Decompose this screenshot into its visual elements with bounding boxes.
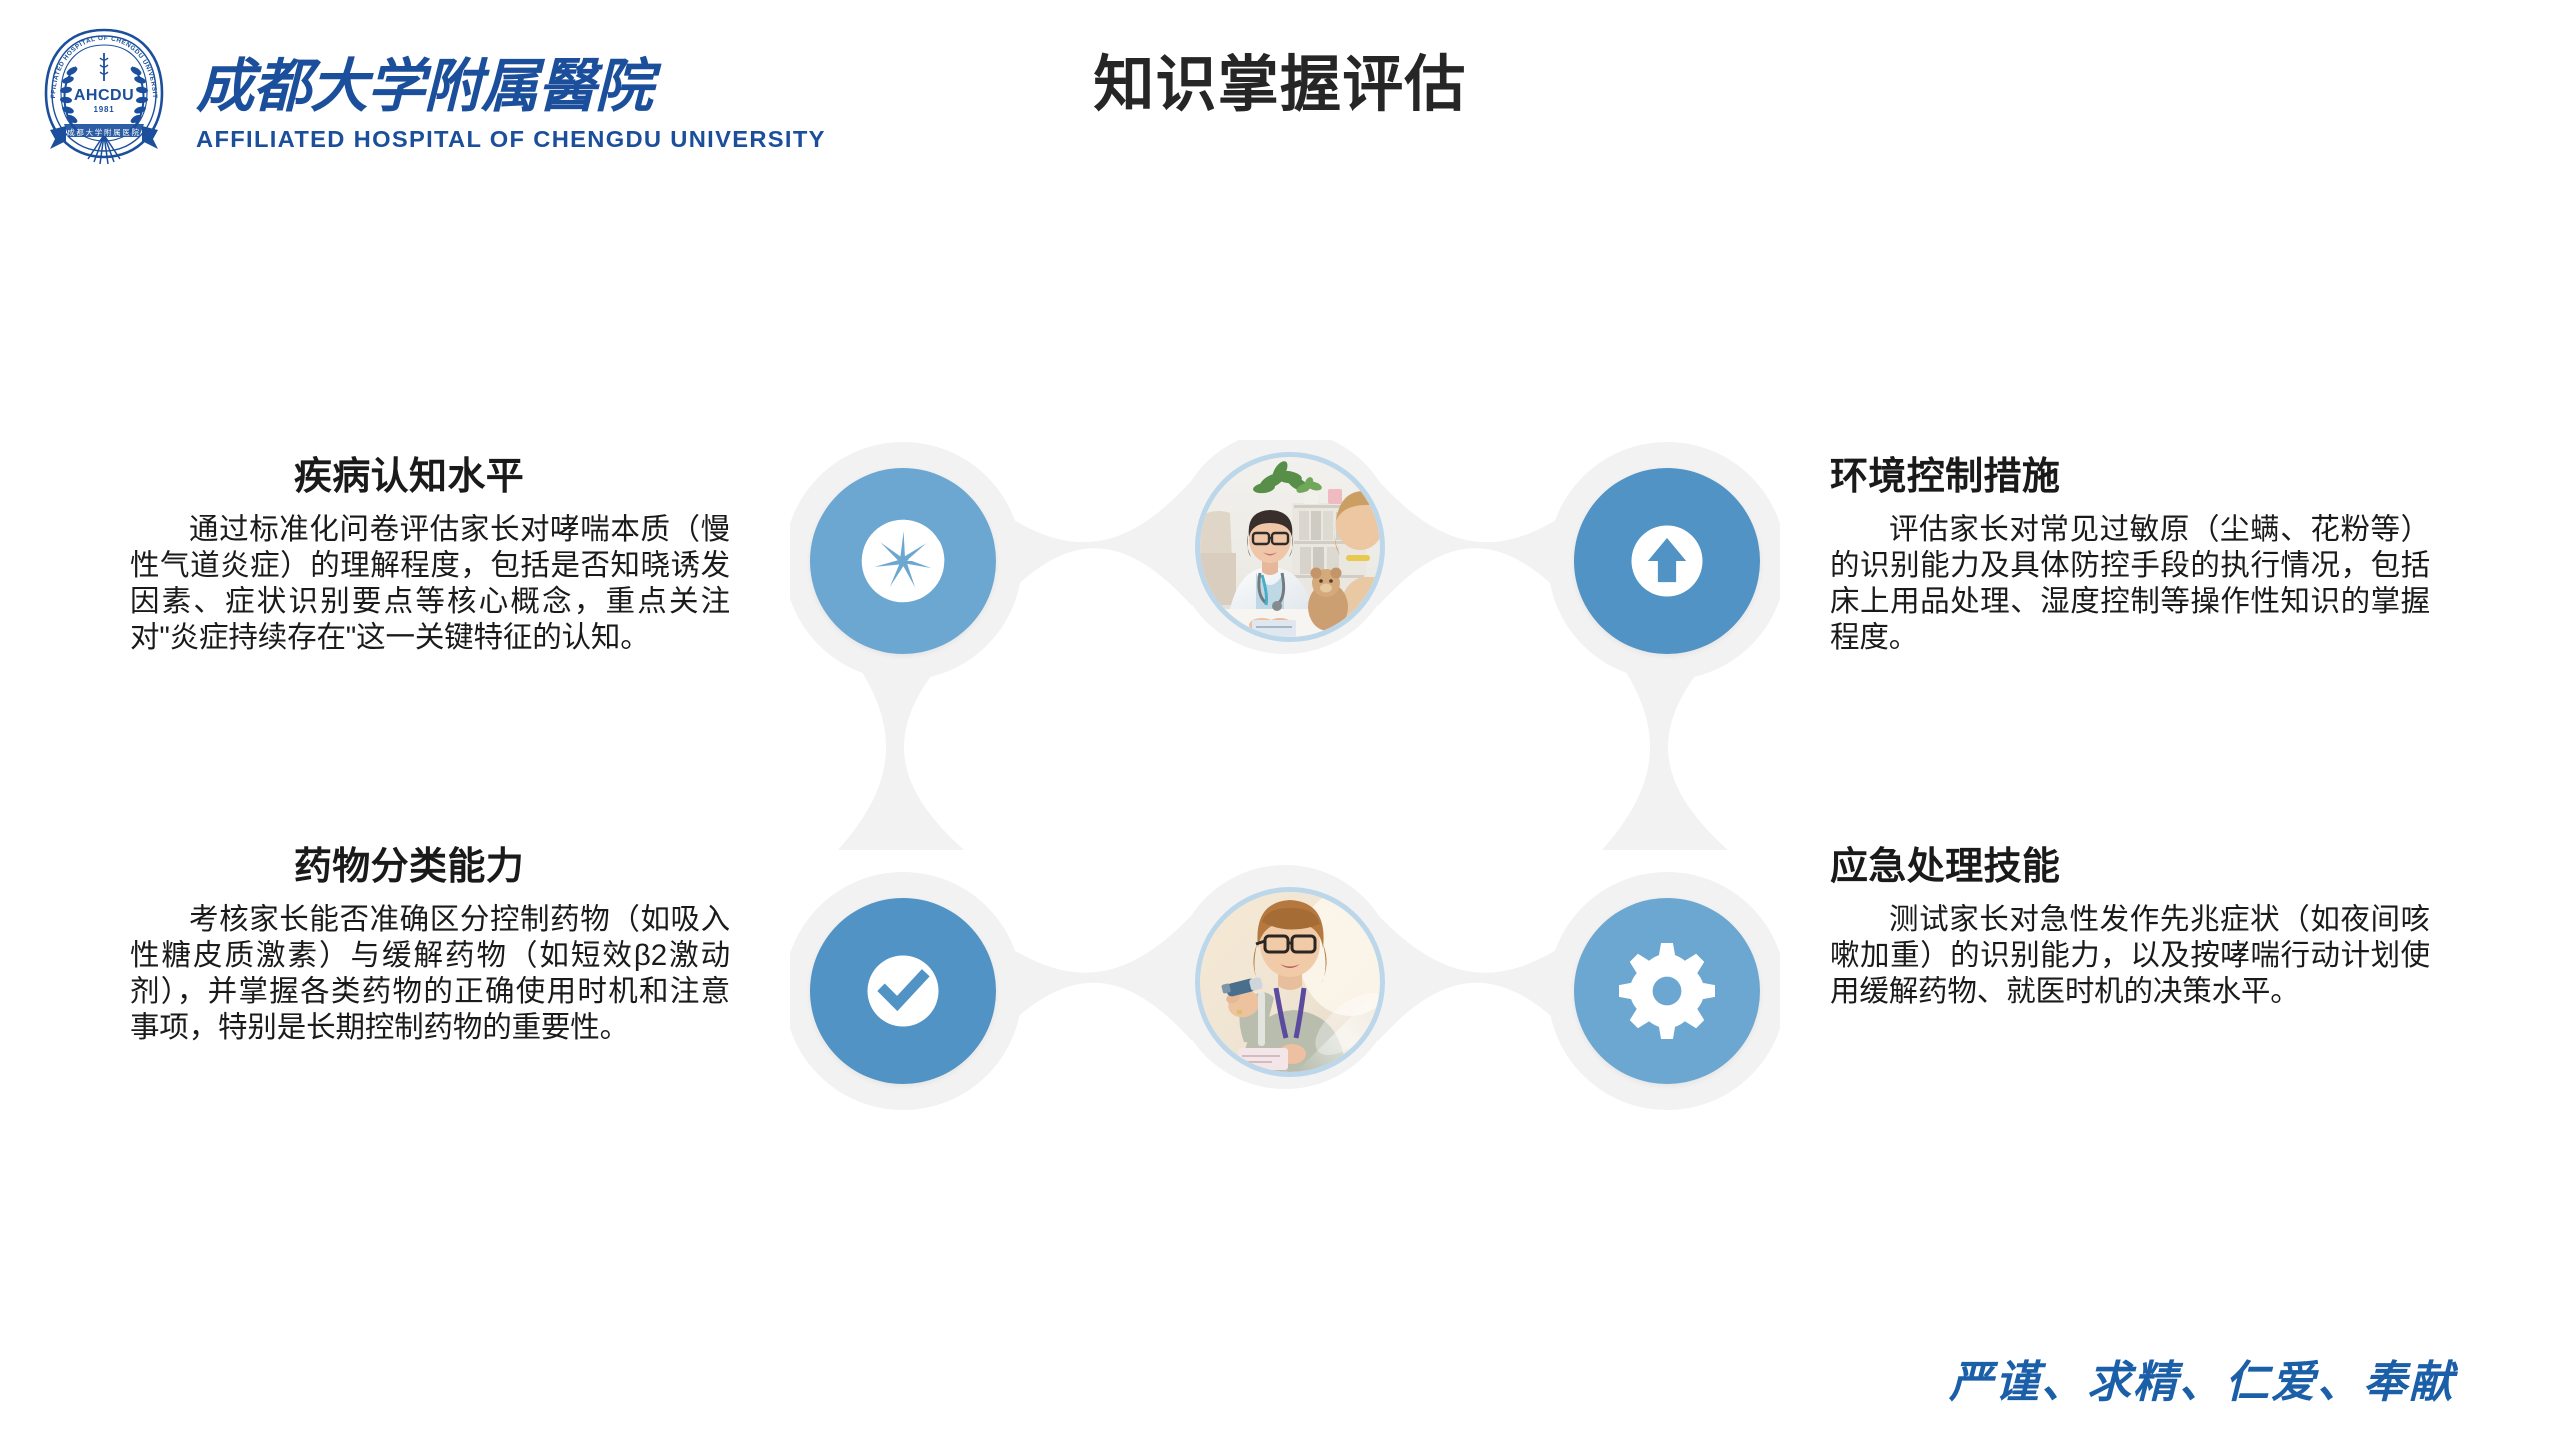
doctor-child-photo bbox=[1200, 457, 1380, 637]
panel-medication: 药物分类能力 考核家长能否准确区分控制药物（如吸入性糖皮质激素）与缓解药物（如短… bbox=[130, 845, 730, 1046]
diagram-photo-inhaler-patient bbox=[1195, 887, 1385, 1077]
footer-slogan: 严谨、求精、仁爱、奉献 bbox=[1912, 1352, 2492, 1412]
diagram-node-arrow-up[interactable] bbox=[1574, 468, 1760, 654]
panel-disease-heading: 疾病认知水平 bbox=[130, 455, 730, 500]
gear-icon bbox=[1619, 943, 1715, 1039]
panel-environment-heading: 环境控制措施 bbox=[1830, 455, 2430, 500]
panel-medication-body: 考核家长能否准确区分控制药物（如吸入性糖皮质激素）与缓解药物（如短效β2激动剂）… bbox=[130, 902, 730, 1046]
central-diagram bbox=[790, 440, 1780, 1130]
panel-environment: 环境控制措施 评估家长对常见过敏原（尘螨、花粉等）的识别能力及具体防控手段的执行… bbox=[1830, 455, 2430, 656]
emblem-ribbon-text: 成都大学附属医院 bbox=[67, 128, 141, 137]
slide-header: AFFILIATED HOSPITAL OF CHENGDU UNIVERSIT… bbox=[0, 0, 2560, 190]
panel-disease: 疾病认知水平 通过标准化问卷评估家长对哮喘本质（慢性气道炎症）的理解程度，包括是… bbox=[130, 455, 730, 656]
aperture-icon bbox=[855, 513, 951, 609]
diagram-node-gear[interactable] bbox=[1574, 898, 1760, 1084]
footer-slogan-text: 严谨、求精、仁爱、奉献 bbox=[1948, 1357, 2459, 1408]
footer-slogan-calligraphy: 严谨、求精、仁爱、奉献 bbox=[1912, 1352, 2492, 1412]
panel-emergency-body: 测试家长对急性发作先兆症状（如夜间咳嗽加重）的识别能力，以及按哮喘行动计划使用缓… bbox=[1830, 902, 2430, 1010]
arrow-up-icon bbox=[1619, 513, 1715, 609]
inhaler-patient-photo bbox=[1200, 892, 1380, 1072]
panel-disease-body: 通过标准化问卷评估家长对哮喘本质（慢性气道炎症）的理解程度，包括是否知晓诱发因素… bbox=[130, 512, 730, 656]
diagram-node-aperture[interactable] bbox=[810, 468, 996, 654]
logo-english-name: AFFILIATED HOSPITAL OF CHENGDU UNIVERSIT… bbox=[196, 126, 826, 153]
check-circle-icon bbox=[855, 943, 951, 1039]
page-title: 知识掌握评估 bbox=[0, 34, 2560, 123]
diagram-node-check[interactable] bbox=[810, 898, 996, 1084]
panel-emergency: 应急处理技能 测试家长对急性发作先兆症状（如夜间咳嗽加重）的识别能力，以及按哮喘… bbox=[1830, 845, 2430, 1010]
panel-environment-body: 评估家长对常见过敏原（尘螨、花粉等）的识别能力及具体防控手段的执行情况，包括床上… bbox=[1830, 512, 2430, 656]
panel-medication-heading: 药物分类能力 bbox=[130, 845, 730, 890]
diagram-photo-doctor-child bbox=[1195, 452, 1385, 642]
panel-emergency-heading: 应急处理技能 bbox=[1830, 845, 2430, 890]
